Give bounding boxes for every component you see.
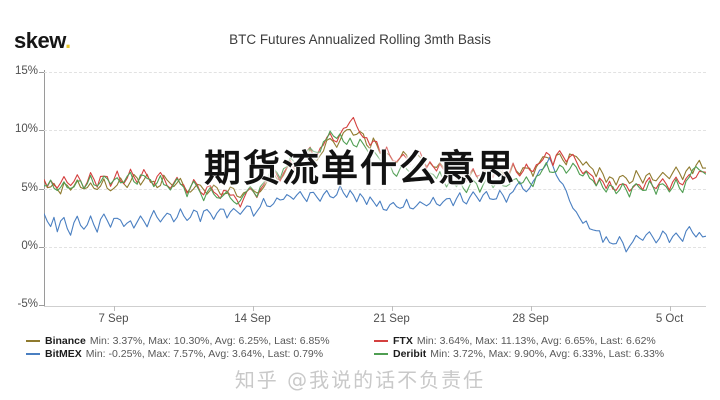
x-tick-mark [114,306,115,311]
series-line-ftx [44,117,706,207]
x-tick-mark [670,306,671,311]
legend-row: BinanceMin: 3.37%, Max: 10.30%, Avg: 6.2… [26,334,716,347]
legend-item-bitmex[interactable]: BitMEXMin: -0.25%, Max: 7.57%, Avg: 3.64… [26,348,366,360]
x-tick-mark [253,306,254,311]
chart-title: BTC Futures Annualized Rolling 3mth Basi… [0,32,720,47]
y-tick-mark [39,305,44,306]
x-tick-mark [392,306,393,311]
legend-series-stats: Min: 3.64%, Max: 11.13%, Avg: 6.65%, Las… [417,335,656,347]
y-tick-label: 10% [0,123,38,135]
legend-series-name: Deribit [393,348,426,360]
x-tick-label: 14 Sep [218,313,288,325]
legend-series-name: Binance [45,335,86,347]
legend-item-deribit[interactable]: DeribitMin: 3.72%, Max: 9.90%, Avg: 6.33… [374,348,664,360]
x-tick-label: 7 Sep [79,313,149,325]
legend-series-stats: Min: 3.72%, Max: 9.90%, Avg: 6.33%, Last… [430,348,664,360]
y-tick-label: 5% [0,182,38,194]
chart-screenshot: skew. BTC Futures Annualized Rolling 3mt… [0,0,720,400]
legend-series-stats: Min: 3.37%, Max: 10.30%, Avg: 6.25%, Las… [90,335,330,347]
x-tick-label: 28 Sep [496,313,566,325]
legend-series-stats: Min: -0.25%, Max: 7.57%, Avg: 3.64%, Las… [86,348,323,360]
x-tick-mark [531,306,532,311]
legend-swatch-ftx [374,340,388,342]
x-axis-line [44,306,706,307]
legend-row: BitMEXMin: -0.25%, Max: 7.57%, Avg: 3.64… [26,347,716,360]
legend-series-name: BitMEX [45,348,82,360]
watermark-text: 知乎 @我说的话不负责任 [0,364,720,393]
y-tick-label: -5% [0,298,38,310]
legend-swatch-binance [26,340,40,342]
legend-item-binance[interactable]: BinanceMin: 3.37%, Max: 10.30%, Avg: 6.2… [26,335,366,347]
legend-swatch-bitmex [26,353,40,355]
legend-series-name: FTX [393,335,413,347]
x-tick-label: 5 Oct [635,313,705,325]
y-tick-label: 0% [0,240,38,252]
plot-area [44,72,706,305]
x-tick-label: 21 Sep [357,313,427,325]
series-lines [44,72,706,305]
legend-item-ftx[interactable]: FTXMin: 3.64%, Max: 11.13%, Avg: 6.65%, … [374,335,656,347]
chart-legend: BinanceMin: 3.37%, Max: 10.30%, Avg: 6.2… [26,334,716,360]
y-tick-label: 15% [0,65,38,77]
legend-swatch-deribit [374,353,388,355]
